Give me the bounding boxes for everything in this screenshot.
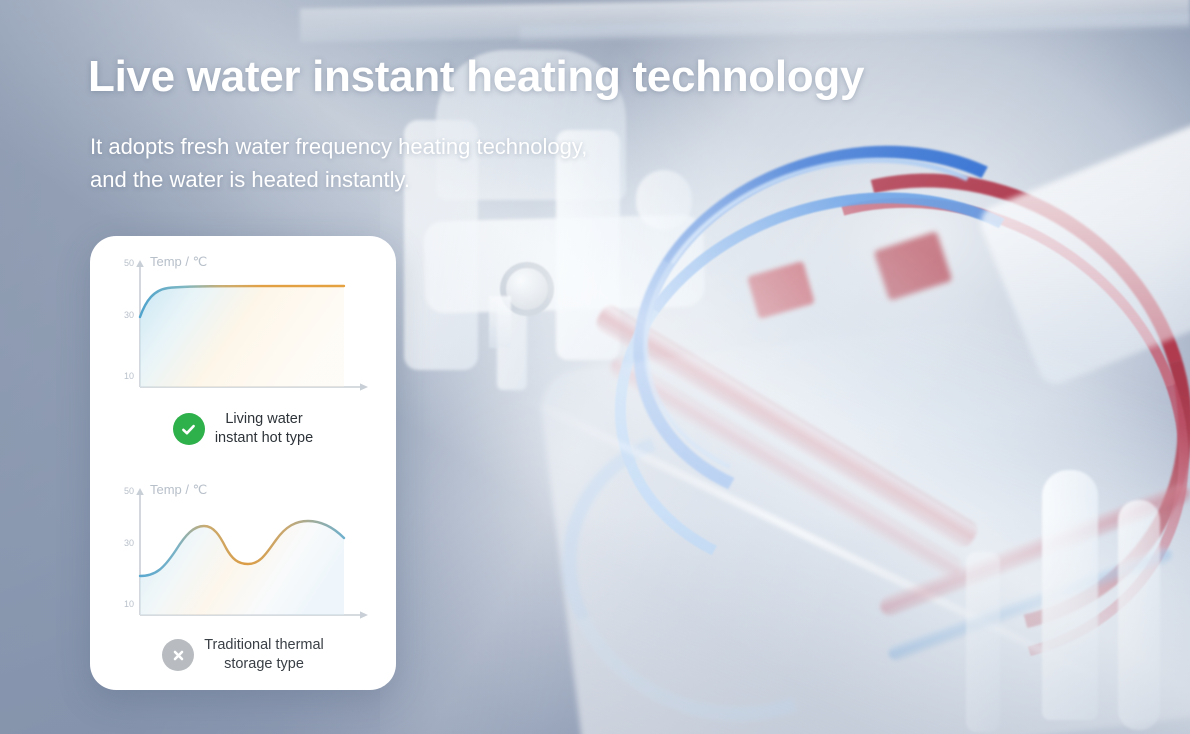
y-tick-50: 50 (112, 258, 134, 268)
y-tick-30-2: 30 (112, 538, 134, 548)
y-axis-title-2: Temp / ℃ (150, 482, 207, 498)
subtitle-line-2: and the water is heated instantly. (90, 163, 587, 196)
chart-instant-plot (112, 260, 374, 408)
legend-traditional: Traditional thermal storage type (90, 636, 396, 674)
y-axis-title: Temp / ℃ (150, 254, 207, 270)
page-title: Live water instant heating technology (88, 52, 864, 102)
legend-label-traditional: Traditional thermal storage type (204, 636, 324, 674)
chart-traditional: Temp / ℃ 50 30 10 (112, 488, 374, 636)
close-icon (162, 639, 194, 671)
chart-panel-traditional: Temp / ℃ 50 30 10 (90, 464, 396, 690)
y-tick-30: 30 (112, 310, 134, 320)
comparison-card: Temp / ℃ 50 30 10 (90, 236, 396, 690)
subtitle-line-1: It adopts fresh water frequency heating … (90, 130, 587, 163)
promo-banner: Live water instant heating technology It… (0, 0, 1190, 734)
chart-instant: Temp / ℃ 50 30 10 (112, 260, 374, 408)
page-subtitle: It adopts fresh water frequency heating … (90, 130, 587, 196)
check-icon (173, 413, 205, 445)
y-tick-10: 10 (112, 371, 134, 381)
legend-label-instant: Living water instant hot type (215, 410, 313, 448)
y-tick-10-2: 10 (112, 599, 134, 609)
chart-panel-instant: Temp / ℃ 50 30 10 (90, 236, 396, 464)
chart-traditional-plot (112, 488, 374, 636)
legend-instant: Living water instant hot type (90, 410, 396, 448)
y-tick-50-2: 50 (112, 486, 134, 496)
